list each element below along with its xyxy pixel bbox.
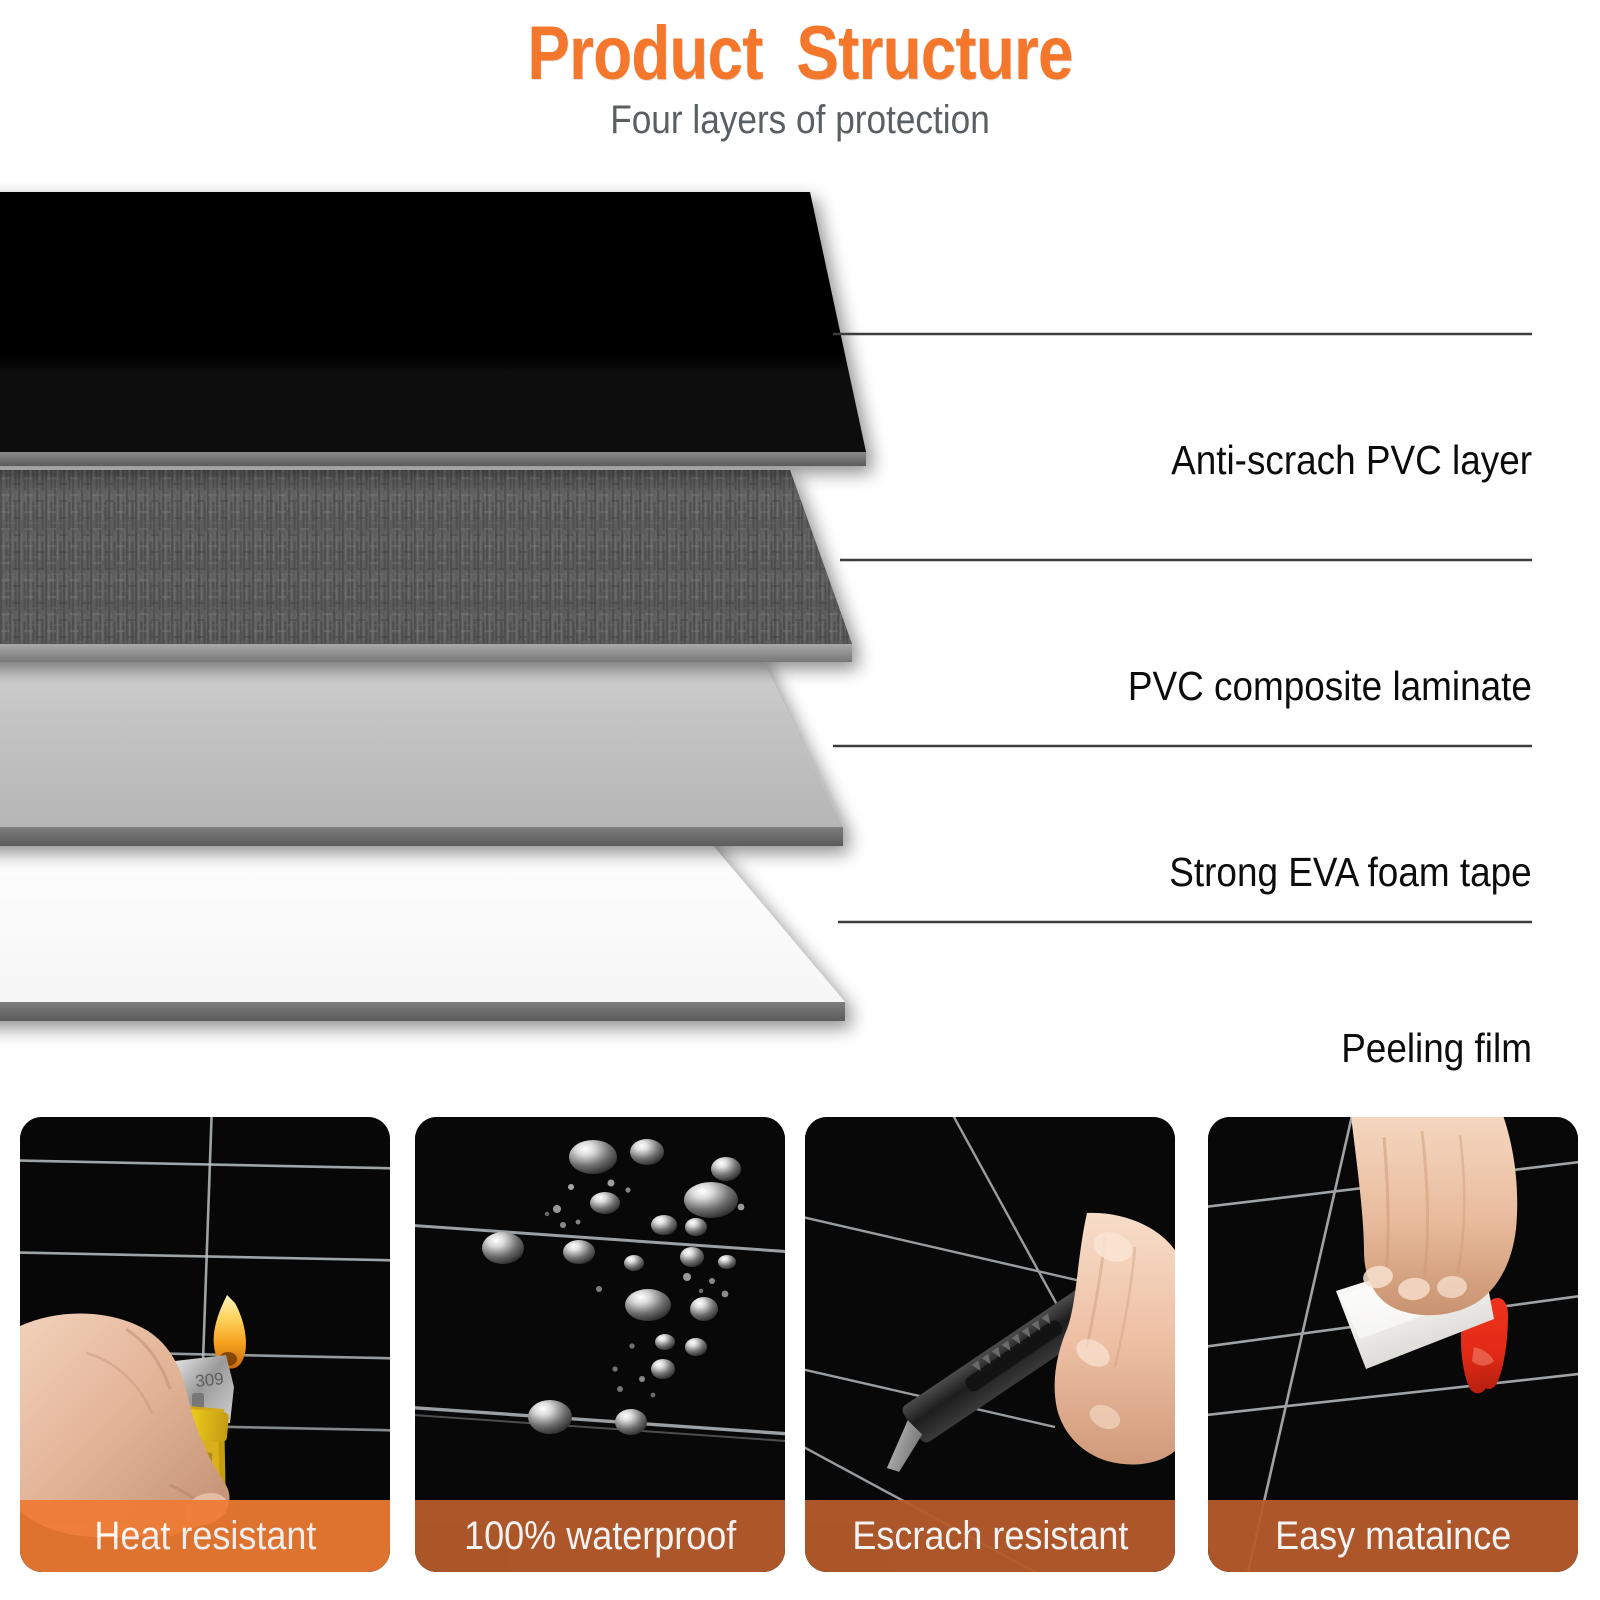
feature-caption: Heat resistant: [94, 1516, 316, 1556]
feature-panel-waterproof[interactable]: 100% waterproof: [415, 1117, 785, 1572]
feature-panel-easy-maintenance[interactable]: Easy mataince: [1208, 1117, 1578, 1572]
caption-bar-easy-maintenance: Easy mataince: [1208, 1500, 1578, 1572]
caption-bar-waterproof: 100% waterproof: [415, 1500, 785, 1572]
feature-caption: Easy mataince: [1275, 1516, 1511, 1556]
caption-bar-heat-resistant: Heat resistant: [20, 1500, 390, 1572]
feature-caption: 100% waterproof: [464, 1516, 736, 1556]
lighter-marking-text: 309: [194, 1369, 224, 1391]
feature-panel-scratch-resistant[interactable]: Escrach resistant: [805, 1117, 1175, 1572]
feature-panel-heat-resistant[interactable]: 309 Heat resistant: [20, 1117, 390, 1572]
caption-bar-scratch-resistant: Escrach resistant: [805, 1500, 1175, 1572]
feature-panel-row: 309 Heat resistant: [0, 0, 1600, 1600]
feature-caption: Escrach resistant: [852, 1516, 1128, 1556]
